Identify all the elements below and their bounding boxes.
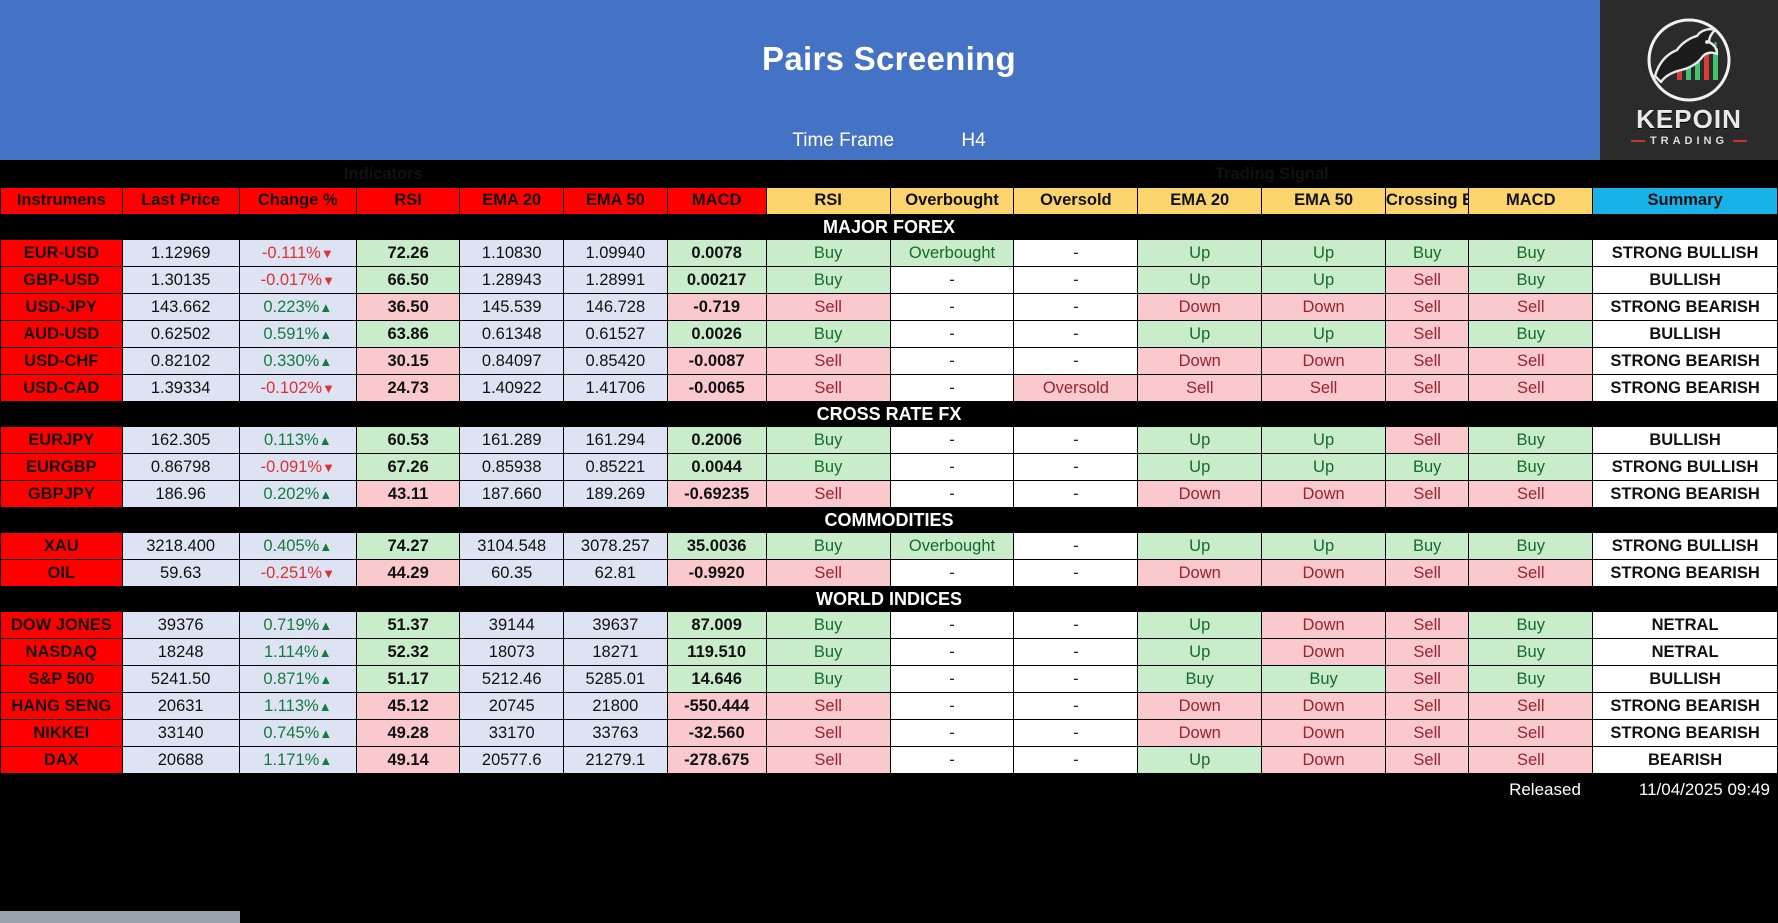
col-macd[interactable]: MACD [667, 188, 766, 215]
time-frame-label: Time Frame [792, 130, 894, 152]
signal-ema50: Down [1262, 639, 1386, 666]
last-price-value: 39376 [122, 612, 239, 639]
change-percent-text: 1.113% [264, 697, 319, 715]
section-header-row: COMMODITIES [1, 508, 1778, 533]
signal-ema50: Up [1262, 533, 1386, 560]
signal-oversold: - [1014, 294, 1138, 321]
released-info: Released 11/04/2025 09:49 [1509, 780, 1770, 800]
signal-rsi: Buy [766, 639, 890, 666]
signal-rsi: Sell [766, 560, 890, 587]
table-row[interactable]: USD-CAD1.39334-0.102%▼24.731.409221.4170… [1, 375, 1778, 402]
instrument-name: S&P 500 [1, 666, 123, 693]
signal-ema20: Buy [1138, 666, 1262, 693]
change-percent-value: 0.202%▲ [239, 481, 356, 508]
table-row[interactable]: AUD-USD0.625020.591%▲63.860.613480.61527… [1, 321, 1778, 348]
table-row[interactable]: NASDAQ182481.114%▲52.321807318271119.510… [1, 639, 1778, 666]
change-percent-text: -0.091% [261, 458, 322, 476]
macd-value: 35.0036 [667, 533, 766, 560]
ema50-value: 3078.257 [564, 533, 668, 560]
signal-overbought: - [890, 375, 1014, 402]
change-percent-value: 0.719%▲ [239, 612, 356, 639]
macd-value: -0.69235 [667, 481, 766, 508]
signal-ema20: Up [1138, 747, 1262, 774]
signal-oversold: - [1014, 693, 1138, 720]
rsi-value: 49.14 [356, 747, 460, 774]
signal-macd: Buy [1469, 639, 1593, 666]
instrument-name: NASDAQ [1, 639, 123, 666]
macd-value: -0.719 [667, 294, 766, 321]
col-signal-oversold[interactable]: Oversold [1014, 188, 1138, 215]
signal-macd: Buy [1469, 666, 1593, 693]
arrow-up-icon: ▲ [319, 645, 332, 660]
signal-ema20: Up [1138, 427, 1262, 454]
col-signal-ema50[interactable]: EMA 50 [1262, 188, 1386, 215]
last-price-value: 0.82102 [122, 348, 239, 375]
change-percent-text: 0.113% [264, 431, 319, 449]
signal-oversold: - [1014, 454, 1138, 481]
instrument-name: EURJPY [1, 427, 123, 454]
change-percent-text: 0.871% [263, 670, 319, 688]
instrument-name: EURGBP [1, 454, 123, 481]
macd-value: 0.0044 [667, 454, 766, 481]
change-percent-value: -0.017%▼ [239, 267, 356, 294]
signal-rsi: Buy [766, 454, 890, 481]
group-header-indicators: Indicators [1, 161, 767, 188]
signal-macd: Sell [1469, 375, 1593, 402]
signal-rsi: Buy [766, 240, 890, 267]
arrow-up-icon: ▲ [319, 354, 332, 369]
signal-overbought: - [890, 267, 1014, 294]
signal-ema50: Up [1262, 427, 1386, 454]
instrument-name: HANG SENG [1, 693, 123, 720]
change-percent-text: 0.719% [263, 616, 319, 634]
change-percent-text: 1.171% [263, 751, 319, 769]
summary-badge: STRONG BEARISH [1593, 481, 1778, 508]
summary-badge: STRONG BULLISH [1593, 533, 1778, 560]
col-signal-rsi[interactable]: RSI [766, 188, 890, 215]
rsi-value: 43.11 [356, 481, 460, 508]
table-row[interactable]: EURJPY162.3050.113%▲60.53161.289161.2940… [1, 427, 1778, 454]
arrow-up-icon: ▲ [319, 726, 332, 741]
signal-crossing-ema: Buy [1386, 454, 1469, 481]
ema50-value: 39637 [564, 612, 668, 639]
released-timestamp: 11/04/2025 09:49 [1639, 780, 1770, 800]
signal-rsi: Sell [766, 481, 890, 508]
instrument-name: USD-CAD [1, 375, 123, 402]
released-label: Released [1509, 780, 1581, 800]
signal-oversold: - [1014, 267, 1138, 294]
macd-value: 87.009 [667, 612, 766, 639]
rsi-value: 36.50 [356, 294, 460, 321]
table-row[interactable]: EURGBP0.86798-0.091%▼67.260.859380.85221… [1, 454, 1778, 481]
signal-crossing-ema: Sell [1386, 348, 1469, 375]
rsi-value: 66.50 [356, 267, 460, 294]
summary-badge: STRONG BEARISH [1593, 294, 1778, 321]
macd-value: 0.2006 [667, 427, 766, 454]
brand-logo: KEPOIN TRADING [1600, 0, 1778, 160]
signal-rsi: Sell [766, 693, 890, 720]
table-row[interactable]: USD-CHF0.821020.330%▲30.150.840970.85420… [1, 348, 1778, 375]
last-price-value: 1.12969 [122, 240, 239, 267]
last-price-value: 1.30135 [122, 267, 239, 294]
summary-badge: BULLISH [1593, 666, 1778, 693]
section-header-row: CROSS RATE FX [1, 402, 1778, 427]
signal-overbought: - [890, 720, 1014, 747]
col-summary[interactable]: Summary [1593, 188, 1778, 215]
signal-macd: Buy [1469, 427, 1593, 454]
table-row[interactable]: EUR-USD1.12969-0.111%▼72.261.108301.0994… [1, 240, 1778, 267]
table-row[interactable]: GBP-USD1.30135-0.017%▼66.501.289431.2899… [1, 267, 1778, 294]
ema50-value: 62.81 [564, 560, 668, 587]
signal-overbought: - [890, 693, 1014, 720]
summary-badge: NETRAL [1593, 639, 1778, 666]
logo-subtitle-text: TRADING [1650, 135, 1728, 147]
summary-badge: STRONG BEARISH [1593, 720, 1778, 747]
signal-macd: Buy [1469, 454, 1593, 481]
pairs-screening-app: Pairs Screening Time Frame H4 [0, 0, 1778, 923]
sheet-tab-strip[interactable] [0, 911, 240, 923]
instrument-name: USD-JPY [1, 294, 123, 321]
group-header-row: Indicators Trading Signal [1, 161, 1778, 188]
signal-crossing-ema: Buy [1386, 533, 1469, 560]
signal-ema50: Up [1262, 454, 1386, 481]
signal-ema20: Sell [1138, 375, 1262, 402]
rsi-value: 60.53 [356, 427, 460, 454]
ema20-value: 1.40922 [460, 375, 564, 402]
col-signal-macd[interactable]: MACD [1469, 188, 1593, 215]
macd-value: 0.0026 [667, 321, 766, 348]
signal-rsi: Sell [766, 348, 890, 375]
change-percent-value: 1.114%▲ [239, 639, 356, 666]
logo-dash-right [1733, 140, 1747, 142]
change-percent-value: 0.405%▲ [239, 533, 356, 560]
signal-oversold: - [1014, 666, 1138, 693]
macd-value: -278.675 [667, 747, 766, 774]
signal-rsi: Buy [766, 533, 890, 560]
change-percent-value: 0.745%▲ [239, 720, 356, 747]
last-price-value: 33140 [122, 720, 239, 747]
signal-ema50: Down [1262, 612, 1386, 639]
signal-macd: Buy [1469, 267, 1593, 294]
signal-oversold: - [1014, 612, 1138, 639]
signal-ema20: Down [1138, 720, 1262, 747]
signal-macd: Sell [1469, 481, 1593, 508]
screener-table: Indicators Trading Signal Instrumens Las… [0, 160, 1778, 774]
instrument-name: USD-CHF [1, 348, 123, 375]
signal-macd: Sell [1469, 560, 1593, 587]
signal-macd: Sell [1469, 294, 1593, 321]
arrow-down-icon: ▼ [322, 566, 335, 581]
section-header-row: WORLD INDICES [1, 587, 1778, 612]
col-last-price[interactable]: Last Price [122, 188, 239, 215]
signal-macd: Buy [1469, 321, 1593, 348]
col-instrumens[interactable]: Instrumens [1, 188, 123, 215]
instrument-name: DOW JONES [1, 612, 123, 639]
signal-oversold: - [1014, 533, 1138, 560]
change-percent-value: -0.102%▼ [239, 375, 356, 402]
rsi-value: 51.37 [356, 612, 460, 639]
instrument-name: DAX [1, 747, 123, 774]
col-signal-ema20[interactable]: EMA 20 [1138, 188, 1262, 215]
signal-macd: Buy [1469, 533, 1593, 560]
table-row[interactable]: DAX206881.171%▲49.1420577.621279.1-278.6… [1, 747, 1778, 774]
ema50-value: 21279.1 [564, 747, 668, 774]
change-percent-value: 0.591%▲ [239, 321, 356, 348]
signal-overbought: - [890, 747, 1014, 774]
section-header-row: MAJOR FOREX [1, 215, 1778, 240]
signal-ema50: Up [1262, 321, 1386, 348]
ema50-value: 0.85420 [564, 348, 668, 375]
signal-crossing-ema: Sell [1386, 294, 1469, 321]
signal-oversold: - [1014, 427, 1138, 454]
signal-crossing-ema: Sell [1386, 560, 1469, 587]
table-row[interactable]: S&P 5005241.500.871%▲51.175212.465285.01… [1, 666, 1778, 693]
signal-rsi: Buy [766, 321, 890, 348]
change-percent-value: -0.111%▼ [239, 240, 356, 267]
signal-overbought: - [890, 612, 1014, 639]
instrument-name: AUD-USD [1, 321, 123, 348]
change-percent-text: -0.111% [262, 244, 321, 262]
signal-ema20: Down [1138, 481, 1262, 508]
signal-macd: Buy [1469, 612, 1593, 639]
signal-ema20: Up [1138, 533, 1262, 560]
signal-crossing-ema: Sell [1386, 427, 1469, 454]
last-price-value: 20688 [122, 747, 239, 774]
ema50-value: 21800 [564, 693, 668, 720]
signal-overbought: - [890, 321, 1014, 348]
macd-value: 119.510 [667, 639, 766, 666]
last-price-value: 20631 [122, 693, 239, 720]
col-signal-crossing-ema[interactable]: Crossing EMA 20 & 50 [1386, 188, 1469, 215]
signal-overbought: - [890, 639, 1014, 666]
summary-badge: STRONG BULLISH [1593, 240, 1778, 267]
signal-oversold: - [1014, 348, 1138, 375]
signal-crossing-ema: Buy [1386, 240, 1469, 267]
last-price-value: 0.86798 [122, 454, 239, 481]
signal-crossing-ema: Sell [1386, 321, 1469, 348]
change-percent-text: -0.251% [261, 564, 322, 582]
instrument-name: EUR-USD [1, 240, 123, 267]
last-price-value: 0.62502 [122, 321, 239, 348]
table-row[interactable]: GBPJPY186.960.202%▲43.11187.660189.269-0… [1, 481, 1778, 508]
last-price-value: 1.39334 [122, 375, 239, 402]
signal-overbought: - [890, 454, 1014, 481]
ema20-value: 0.85938 [460, 454, 564, 481]
rsi-value: 63.86 [356, 321, 460, 348]
signal-ema20: Down [1138, 348, 1262, 375]
signal-ema20: Up [1138, 267, 1262, 294]
ema20-value: 1.28943 [460, 267, 564, 294]
ema50-value: 18271 [564, 639, 668, 666]
last-price-value: 59.63 [122, 560, 239, 587]
col-ema20[interactable]: EMA 20 [460, 188, 564, 215]
change-percent-text: 0.223% [263, 298, 319, 316]
time-frame-value[interactable]: H4 [961, 130, 985, 152]
group-header-trading-signal: Trading Signal [766, 161, 1777, 188]
macd-value: -0.0087 [667, 348, 766, 375]
ema20-value: 161.289 [460, 427, 564, 454]
summary-badge: NETRAL [1593, 612, 1778, 639]
signal-ema20: Up [1138, 240, 1262, 267]
signal-ema50: Down [1262, 747, 1386, 774]
change-percent-value: -0.251%▼ [239, 560, 356, 587]
signal-overbought: Overbought [890, 533, 1014, 560]
ema20-value: 5212.46 [460, 666, 564, 693]
signal-oversold: - [1014, 639, 1138, 666]
signal-ema50: Down [1262, 481, 1386, 508]
col-signal-overbought[interactable]: Overbought [890, 188, 1014, 215]
signal-rsi: Sell [766, 720, 890, 747]
signal-oversold: - [1014, 560, 1138, 587]
signal-ema50: Down [1262, 348, 1386, 375]
ema20-value: 33170 [460, 720, 564, 747]
last-price-value: 143.662 [122, 294, 239, 321]
signal-ema50: Down [1262, 720, 1386, 747]
section-title: CROSS RATE FX [1, 402, 1778, 427]
signal-rsi: Buy [766, 267, 890, 294]
table-row[interactable]: USD-JPY143.6620.223%▲36.50145.539146.728… [1, 294, 1778, 321]
arrow-up-icon: ▲ [319, 699, 332, 714]
ema50-value: 0.61527 [564, 321, 668, 348]
rsi-value: 49.28 [356, 720, 460, 747]
ema50-value: 0.85221 [564, 454, 668, 481]
last-price-value: 5241.50 [122, 666, 239, 693]
arrow-up-icon: ▲ [319, 433, 332, 448]
signal-crossing-ema: Sell [1386, 267, 1469, 294]
arrow-up-icon: ▲ [319, 327, 332, 342]
table-row[interactable]: OIL59.63-0.251%▼44.2960.3562.81-0.9920Se… [1, 560, 1778, 587]
table-row[interactable]: HANG SENG206311.113%▲45.122074521800-550… [1, 693, 1778, 720]
rsi-value: 44.29 [356, 560, 460, 587]
table-row[interactable]: DOW JONES393760.719%▲51.37391443963787.0… [1, 612, 1778, 639]
macd-value: -550.444 [667, 693, 766, 720]
ema50-value: 189.269 [564, 481, 668, 508]
signal-rsi: Sell [766, 375, 890, 402]
logo-dash-left [1631, 140, 1645, 142]
table-row[interactable]: XAU3218.4000.405%▲74.273104.5483078.2573… [1, 533, 1778, 560]
rsi-value: 30.15 [356, 348, 460, 375]
table-body: MAJOR FOREXEUR-USD1.12969-0.111%▼72.261.… [1, 215, 1778, 774]
signal-crossing-ema: Sell [1386, 639, 1469, 666]
change-percent-text: 0.745% [263, 724, 319, 742]
signal-oversold: Oversold [1014, 375, 1138, 402]
arrow-up-icon: ▲ [319, 672, 332, 687]
signal-rsi: Sell [766, 294, 890, 321]
signal-macd: Buy [1469, 240, 1593, 267]
col-rsi[interactable]: RSI [356, 188, 460, 215]
arrow-down-icon: ▼ [322, 460, 335, 475]
signal-overbought: - [890, 666, 1014, 693]
change-percent-text: -0.017% [261, 271, 322, 289]
ema20-value: 60.35 [460, 560, 564, 587]
change-percent-value: 1.171%▲ [239, 747, 356, 774]
ema20-value: 20745 [460, 693, 564, 720]
macd-value: -0.9920 [667, 560, 766, 587]
signal-crossing-ema: Sell [1386, 375, 1469, 402]
change-percent-value: 0.223%▲ [239, 294, 356, 321]
signal-macd: Sell [1469, 348, 1593, 375]
summary-badge: BULLISH [1593, 267, 1778, 294]
signal-ema50: Sell [1262, 375, 1386, 402]
ema50-value: 1.28991 [564, 267, 668, 294]
signal-overbought: Overbought [890, 240, 1014, 267]
signal-oversold: - [1014, 240, 1138, 267]
signal-ema20: Down [1138, 294, 1262, 321]
signal-macd: Sell [1469, 747, 1593, 774]
logo-subtitle: TRADING [1631, 135, 1747, 147]
signal-rsi: Sell [766, 747, 890, 774]
change-percent-text: 0.202% [263, 485, 319, 503]
rsi-value: 24.73 [356, 375, 460, 402]
page-title: Pairs Screening [0, 40, 1778, 78]
ema20-value: 0.84097 [460, 348, 564, 375]
signal-crossing-ema: Sell [1386, 481, 1469, 508]
change-percent-value: 0.113%▲ [239, 427, 356, 454]
signal-rsi: Buy [766, 427, 890, 454]
summary-badge: BEARISH [1593, 747, 1778, 774]
summary-badge: STRONG BEARISH [1593, 560, 1778, 587]
instrument-name: NIKKEI [1, 720, 123, 747]
summary-badge: STRONG BEARISH [1593, 693, 1778, 720]
signal-rsi: Buy [766, 666, 890, 693]
signal-crossing-ema: Sell [1386, 666, 1469, 693]
page-header: Pairs Screening Time Frame H4 [0, 0, 1778, 160]
change-percent-value: 1.113%▲ [239, 693, 356, 720]
change-percent-text: 0.330% [263, 352, 319, 370]
ema50-value: 161.294 [564, 427, 668, 454]
signal-oversold: - [1014, 720, 1138, 747]
arrow-down-icon: ▼ [322, 381, 335, 396]
instrument-name: XAU [1, 533, 123, 560]
rsi-value: 51.17 [356, 666, 460, 693]
ema50-value: 33763 [564, 720, 668, 747]
signal-crossing-ema: Sell [1386, 720, 1469, 747]
rsi-value: 45.12 [356, 693, 460, 720]
summary-badge: STRONG BULLISH [1593, 454, 1778, 481]
last-price-value: 162.305 [122, 427, 239, 454]
arrow-up-icon: ▲ [319, 487, 332, 502]
instrument-name: GBP-USD [1, 267, 123, 294]
signal-ema50: Up [1262, 240, 1386, 267]
rsi-value: 52.32 [356, 639, 460, 666]
table-head: Indicators Trading Signal Instrumens Las… [1, 161, 1778, 215]
change-percent-text: 0.405% [263, 537, 319, 555]
summary-badge: BULLISH [1593, 321, 1778, 348]
arrow-up-icon: ▲ [319, 618, 332, 633]
macd-value: -0.0065 [667, 375, 766, 402]
col-ema50[interactable]: EMA 50 [564, 188, 668, 215]
signal-macd: Sell [1469, 720, 1593, 747]
ema20-value: 20577.6 [460, 747, 564, 774]
signal-oversold: - [1014, 321, 1138, 348]
col-change-pct[interactable]: Change % [239, 188, 356, 215]
signal-ema50: Buy [1262, 666, 1386, 693]
ema20-value: 187.660 [460, 481, 564, 508]
table-row[interactable]: NIKKEI331400.745%▲49.283317033763-32.560… [1, 720, 1778, 747]
signal-oversold: - [1014, 747, 1138, 774]
page-footer: Released 11/04/2025 09:49 [0, 774, 1778, 923]
signal-ema50: Down [1262, 560, 1386, 587]
ema20-value: 0.61348 [460, 321, 564, 348]
rsi-value: 67.26 [356, 454, 460, 481]
signal-crossing-ema: Sell [1386, 747, 1469, 774]
macd-value: -32.560 [667, 720, 766, 747]
change-percent-text: 0.591% [263, 325, 319, 343]
ema50-value: 5285.01 [564, 666, 668, 693]
macd-value: 14.646 [667, 666, 766, 693]
section-title: COMMODITIES [1, 508, 1778, 533]
change-percent-value: 0.330%▲ [239, 348, 356, 375]
